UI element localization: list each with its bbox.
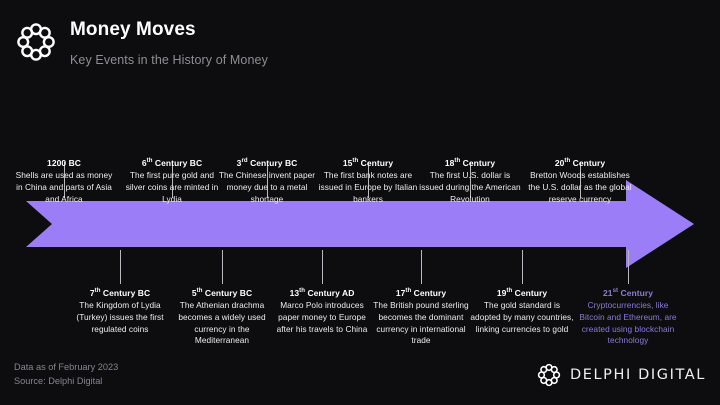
- timeline-event: 20th CenturyBretton Woods establishes th…: [528, 157, 632, 158]
- brand-name: DELPHI DIGITAL: [570, 367, 706, 383]
- timeline-event: 3rd Century BCThe Chinese invent paper m…: [215, 157, 319, 158]
- timeline-event: 7th Century BCThe Kingdom of Lydia (Turk…: [68, 287, 172, 335]
- event-era-label: 6th Century BC: [120, 157, 224, 169]
- event-description: The British pound sterling becomes the d…: [369, 300, 473, 346]
- event-era-label: 17th Century: [369, 287, 473, 299]
- source-label: Source: Delphi Digital: [14, 374, 118, 388]
- event-era-label: 20th Century: [528, 157, 632, 169]
- tick-mark-bottom-0: [120, 250, 121, 284]
- page-subtitle: Key Events in the History of Money: [70, 51, 268, 69]
- footer-note: Data as of February 2023 Source: Delphi …: [14, 360, 118, 388]
- page-title: Money Moves: [70, 18, 268, 42]
- delphi-ring-logo-icon: [14, 20, 58, 64]
- event-description: Shells are used as money in China and pa…: [12, 170, 116, 205]
- delphi-ring-logo-icon: [536, 362, 562, 388]
- event-era-label: 15th Century: [316, 157, 420, 169]
- timeline-event: 6th Century BCThe first pure gold and si…: [120, 157, 224, 158]
- timeline-event: 5th Century BCThe Athenian drachma becom…: [170, 287, 274, 347]
- tick-mark-bottom-2: [322, 250, 323, 284]
- timeline-event: 21st CenturyCryptocurrencies, like Bitco…: [576, 287, 680, 347]
- tick-mark-bottom-5: [628, 250, 629, 284]
- timeline-event: 18th CenturyThe first U.S. dollar is iss…: [418, 157, 522, 158]
- event-era-label: 3rd Century BC: [215, 157, 319, 169]
- event-description: The Kingdom of Lydia (Turkey) issues the…: [68, 300, 172, 335]
- event-description: Marco Polo introduces paper money to Eur…: [270, 300, 374, 335]
- event-description: The first pure gold and silver coins are…: [120, 170, 224, 205]
- event-era-label: 18th Century: [418, 157, 522, 169]
- event-era-label: 7th Century BC: [68, 287, 172, 299]
- brand-lockup: DELPHI DIGITAL: [536, 360, 706, 390]
- event-era-label: 19th Century: [470, 287, 574, 299]
- timeline-event: 1200 BCShells are used as money in China…: [12, 157, 116, 158]
- tick-mark-bottom-3: [421, 250, 422, 284]
- event-description: The first U.S. dollar is issued during t…: [418, 170, 522, 205]
- data-as-of-label: Data as of February 2023: [14, 360, 118, 374]
- event-description: The Athenian drachma becomes a widely us…: [170, 300, 274, 346]
- timeline-event: 19th CenturyThe gold standard is adopted…: [470, 287, 574, 335]
- event-description: The first bank notes are issued in Europ…: [316, 170, 420, 205]
- event-era-label: 5th Century BC: [170, 287, 274, 299]
- event-description: The Chinese invent paper money due to a …: [215, 170, 319, 205]
- event-description: Bretton Woods establishes the U.S. dolla…: [528, 170, 632, 205]
- title-block: Money Moves Key Events in the History of…: [70, 18, 268, 69]
- timeline-event: 15th CenturyThe first bank notes are iss…: [316, 157, 420, 158]
- tick-mark-bottom-1: [222, 250, 223, 284]
- timeline-event: 13th Century ADMarco Polo introduces pap…: [270, 287, 374, 335]
- event-description: Cryptocurrencies, like Bitcoin and Ether…: [576, 300, 680, 346]
- event-description: The gold standard is adopted by many cou…: [470, 300, 574, 335]
- event-era-label: 21st Century: [576, 287, 680, 299]
- tick-mark-bottom-4: [522, 250, 523, 284]
- header: Money Moves Key Events in the History of…: [14, 16, 434, 78]
- event-era-label: 1200 BC: [12, 157, 116, 169]
- infographic-canvas: Money Moves Key Events in the History of…: [0, 0, 720, 405]
- timeline-event: 17th CenturyThe British pound sterling b…: [369, 287, 473, 347]
- event-era-label: 13th Century AD: [270, 287, 374, 299]
